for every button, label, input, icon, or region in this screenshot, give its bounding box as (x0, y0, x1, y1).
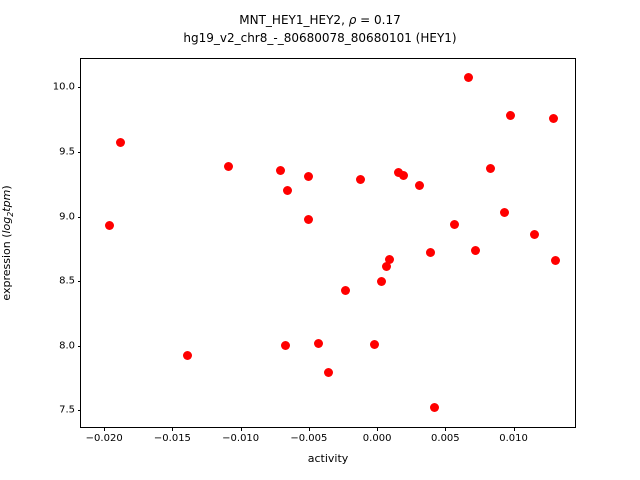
data-point (276, 166, 285, 175)
x-axis-label: activity (80, 452, 576, 465)
data-point (399, 171, 408, 180)
y-axis-tick-label: 9.5 (59, 146, 75, 157)
y-axis-tick (78, 152, 82, 153)
y-axis-tick (78, 217, 82, 218)
y-axis-tick-label: 9.0 (59, 211, 75, 222)
x-axis-tick-label: 0.005 (431, 433, 460, 444)
x-axis-tick (241, 427, 242, 431)
data-point (324, 368, 333, 377)
data-point (304, 172, 313, 181)
data-point (281, 341, 290, 350)
y-axis-tick-label: 10.0 (53, 82, 75, 93)
y-axis-tick (78, 281, 82, 282)
data-point (471, 246, 480, 255)
data-point (450, 220, 459, 229)
x-axis-tick-label: −0.015 (154, 433, 191, 444)
data-point (426, 248, 435, 257)
x-axis-tick-label: −0.005 (290, 433, 327, 444)
data-point (551, 256, 560, 265)
scatter-plot-figure: MNT_HEY1_HEY2, ρ = 0.17 hg19_v2_chr8_-_8… (0, 0, 640, 480)
data-point (356, 175, 365, 184)
data-point (500, 208, 509, 217)
y-axis-tick-label: 7.5 (59, 405, 75, 416)
y-axis-label-log: log (0, 217, 13, 234)
data-point (116, 138, 125, 147)
x-axis-tick (445, 427, 446, 431)
data-point (382, 262, 391, 271)
x-axis-tick (377, 427, 378, 431)
chart-subtitle: hg19_v2_chr8_-_80680078_80680101 (HEY1) (0, 29, 640, 47)
data-point (530, 230, 539, 239)
y-axis-tick-label: 8.5 (59, 276, 75, 287)
y-axis-tick (78, 410, 82, 411)
chart-title-rho-value: = 0.17 (356, 13, 400, 27)
data-point (377, 277, 386, 286)
data-point (506, 111, 515, 120)
chart-title-line-1: MNT_HEY1_HEY2, ρ = 0.17 (0, 11, 640, 29)
y-axis-label: expression (log2tpm) (0, 58, 16, 428)
chart-title: MNT_HEY1_HEY2, ρ = 0.17 hg19_v2_chr8_-_8… (0, 11, 640, 47)
data-point (314, 339, 323, 348)
data-point (183, 351, 192, 360)
data-point (486, 164, 495, 173)
data-point (385, 255, 394, 264)
data-point (105, 221, 114, 230)
x-axis-tick (104, 427, 105, 431)
data-point (464, 73, 473, 82)
x-axis-tick-label: 0.000 (363, 433, 392, 444)
y-axis-label-prefix: expression ( (0, 234, 13, 301)
x-axis-tick (172, 427, 173, 431)
x-axis-tick (309, 427, 310, 431)
plot-data-area (81, 59, 575, 427)
data-point (370, 340, 379, 349)
x-axis-tick-label: 0.010 (499, 433, 528, 444)
x-axis-tick (514, 427, 515, 431)
y-axis-label-suffix: ) (0, 185, 13, 189)
data-point (224, 162, 233, 171)
data-point (430, 403, 439, 412)
x-axis-tick-label: −0.020 (86, 433, 123, 444)
y-axis-label-subscript: 2 (6, 212, 15, 217)
chart-title-prefix: MNT_HEY1_HEY2, (239, 13, 348, 27)
data-point (304, 215, 313, 224)
data-point (549, 114, 558, 123)
plot-axes: −0.020−0.015−0.010−0.0050.0000.0050.0107… (80, 58, 576, 428)
data-point (341, 286, 350, 295)
y-axis-tick (78, 346, 82, 347)
data-point (415, 181, 424, 190)
y-axis-tick (78, 87, 82, 88)
y-axis-label-tpm: tpm (0, 190, 13, 212)
data-point (283, 186, 292, 195)
x-axis-tick-label: −0.010 (222, 433, 259, 444)
y-axis-tick-label: 8.0 (59, 340, 75, 351)
